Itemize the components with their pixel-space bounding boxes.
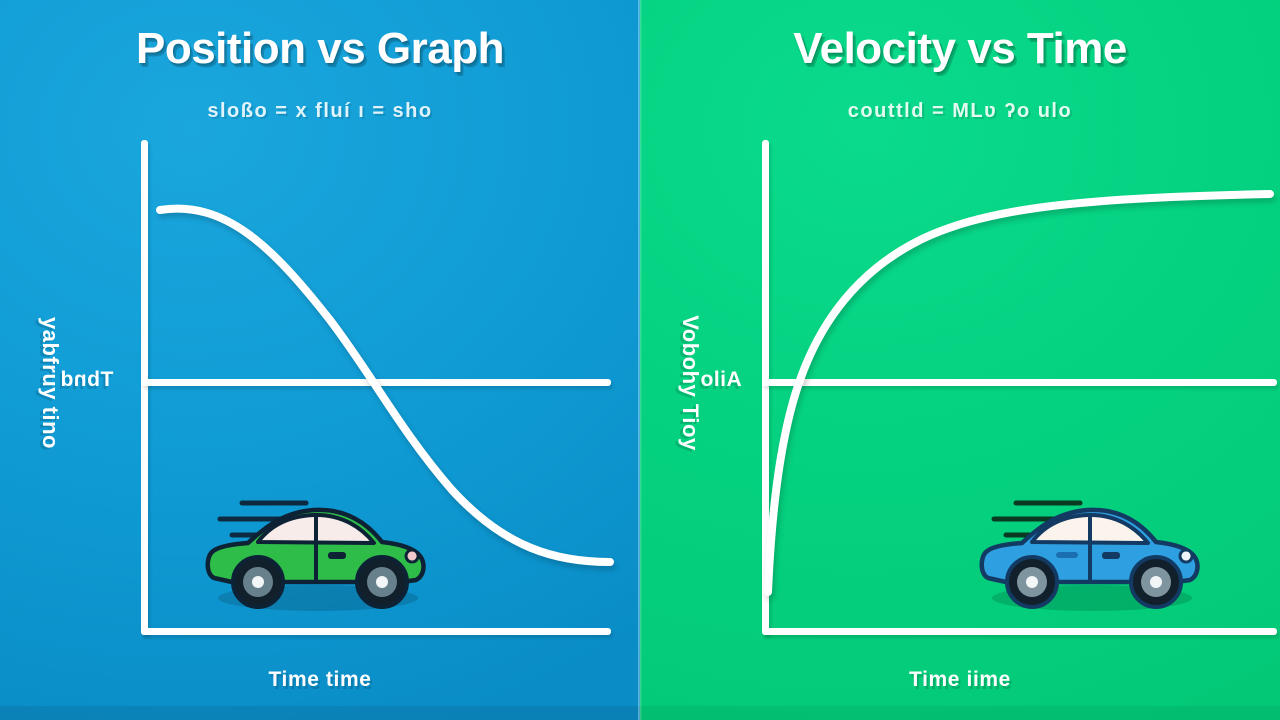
car-wheel-rear [233, 557, 283, 607]
car-headlight [406, 550, 418, 562]
panel-bottom-band-left [0, 706, 640, 720]
car-door-handle [328, 552, 346, 559]
panel-velocity-vs-time: Velocity vs Time couttld = MLʋ ʔo ulo Vo… [640, 0, 1280, 720]
green-car [196, 486, 436, 616]
x-axis-label-left: Time time [0, 668, 640, 692]
car-door-handle [1102, 552, 1120, 559]
panel-position-vs-time: Position vs Graph sloßo = x fluí ı = sho… [0, 0, 640, 720]
car-headlight [1180, 550, 1192, 562]
car-wheel-front [1131, 557, 1181, 607]
x-axis-label-right: Time iime [640, 668, 1280, 692]
car-wheel-front [357, 557, 407, 607]
car-trim [1056, 552, 1078, 558]
panel-bottom-band-right [640, 706, 1280, 720]
blue-car [970, 486, 1210, 616]
comparison-diagram: Position vs Graph sloßo = x fluí ı = sho… [0, 0, 1280, 720]
car-wheel-rear [1007, 557, 1057, 607]
